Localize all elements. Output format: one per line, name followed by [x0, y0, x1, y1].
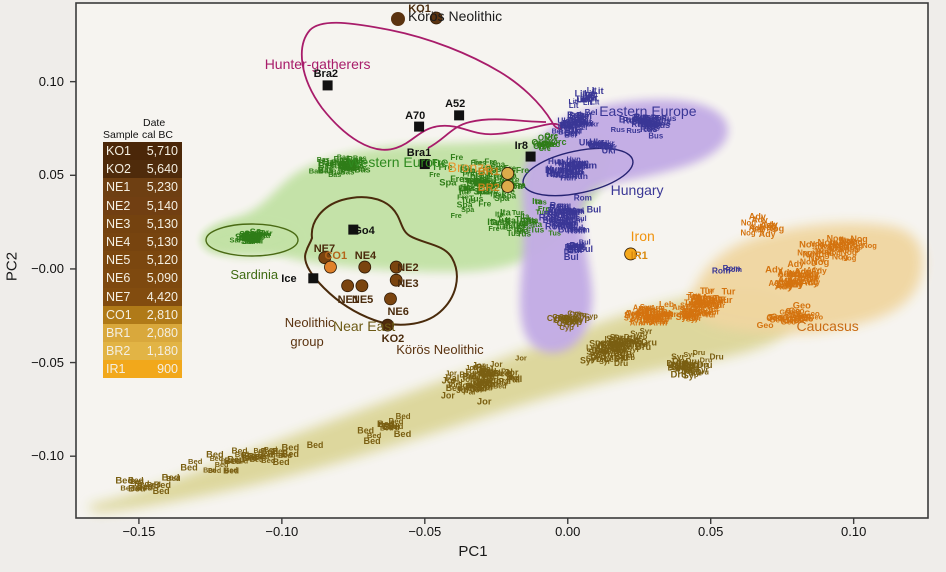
sample-label: Ir8 [515, 140, 528, 152]
hunter-gatherer-marker [454, 110, 464, 120]
population-label: Ukr [587, 139, 600, 148]
population-label: Rom [553, 220, 574, 230]
legend-row: BR21,180 [103, 342, 182, 360]
legend-sample-id: NE7 [106, 290, 130, 304]
population-label: Orc [533, 142, 547, 151]
population-label: Spa [461, 205, 475, 214]
legend-row: IR1900 [103, 360, 182, 378]
ancient-sample-marker [502, 181, 514, 193]
sample-label: KO1 [408, 3, 431, 15]
legend-sample-id: NE1 [106, 180, 130, 194]
legend-row: NE74,420 [103, 288, 182, 306]
population-label: Syr [683, 370, 698, 380]
cluster-annotation: Iron [631, 228, 655, 244]
population-label: Pal [479, 367, 493, 378]
population-label: Nog [828, 244, 844, 253]
population-label: Bed [244, 455, 257, 463]
population-label: Ukr [601, 139, 614, 148]
ancient-sample-marker [324, 261, 336, 273]
population-label: Arm [645, 314, 662, 324]
population-label: Jor [441, 391, 456, 401]
population-label: Bul [551, 209, 566, 220]
population-label: Bed [153, 486, 170, 496]
legend-sample-date: 5,090 [147, 271, 178, 285]
population-label: Jor [465, 363, 477, 372]
population-label: Syr [597, 350, 611, 360]
sample-label: Bra1 [407, 147, 431, 159]
population-label: Nog [827, 233, 844, 243]
sample-label: NE3 [397, 278, 418, 290]
ancient-sample-marker [342, 280, 354, 292]
population-label: Bed [307, 440, 324, 450]
population-label: Bed [382, 421, 398, 431]
legend-sample-date: 5,130 [147, 235, 178, 249]
population-label: Ita [495, 210, 505, 219]
hunter-gatherer-marker [323, 80, 333, 90]
population-label: Ita [500, 218, 510, 227]
population-label: Bed [133, 484, 147, 493]
population-label: Ady [775, 280, 793, 291]
legend-rows: KO15,710KO25,640NE15,230NE25,140NE35,130… [103, 142, 182, 378]
cluster-annotation: Eastern Europe [599, 103, 696, 119]
legend-sample-date: 1,180 [147, 344, 178, 358]
cluster-annotation: Neolithic [285, 315, 335, 330]
legend-header-date-line1: Date [143, 117, 165, 129]
population-label: Tus [512, 208, 524, 217]
legend-sample-id: NE3 [106, 217, 130, 231]
population-label: Jor [477, 395, 492, 406]
sample-label: A70 [405, 110, 425, 122]
ancient-sample-marker [356, 280, 368, 292]
cluster-annotation: Körös Neolithic [396, 342, 483, 357]
population-label: Dru [613, 339, 629, 349]
population-label: Dru [614, 358, 628, 368]
y-tick-label: 0.05 [16, 167, 64, 182]
population-label: Fre [516, 165, 530, 175]
sample-label: KO2 [382, 333, 405, 345]
population-label: Pal [463, 388, 475, 397]
legend-sample-date: 5,120 [147, 253, 178, 267]
legend-row: NE15,230 [103, 178, 182, 196]
sample-date-legend: Sample Date cal BC KO15,710KO25,640NE15,… [103, 114, 182, 378]
population-label: Nog [799, 238, 817, 249]
legend-sample-id: CO1 [106, 308, 132, 322]
legend-row: KO25,640 [103, 160, 182, 178]
legend-sample-id: NE5 [106, 253, 130, 267]
legend-sample-id: KO1 [106, 144, 131, 158]
population-label: Fre [450, 174, 464, 184]
sample-label: NE6 [387, 306, 408, 318]
hunter-gatherer-marker [414, 122, 424, 132]
legend-sample-id: BR1 [106, 326, 130, 340]
population-label: Bed [166, 474, 181, 483]
legend-sample-id: KO2 [106, 162, 131, 176]
legend-sample-date: 5,140 [147, 199, 178, 213]
population-label: Syr [696, 365, 709, 374]
population-label: Syr [703, 300, 715, 309]
population-label: Bed [221, 458, 234, 466]
population-label: Fre [514, 181, 527, 190]
population-label: Jor [445, 369, 457, 378]
legend-sample-date: 5,640 [147, 162, 178, 176]
legend-sample-date: 5,130 [147, 217, 178, 231]
legend-row: NE45,130 [103, 233, 182, 251]
legend-row: NE65,090 [103, 269, 182, 287]
population-label: Ady [763, 220, 778, 229]
population-label: Bed [180, 462, 197, 472]
legend-row: BR12,080 [103, 324, 182, 342]
population-label: Pal [451, 378, 463, 387]
sample-label: IR1 [631, 250, 648, 262]
population-label: Bed [282, 441, 300, 452]
population-label: Bed [367, 431, 382, 440]
legend-sample-id: NE2 [106, 199, 130, 213]
population-label: Bed [396, 412, 411, 421]
pca-figure: BasBasBasBasBasBasBasBasBasBasBasBasBasB… [0, 0, 946, 572]
population-label: Rom [567, 206, 584, 215]
x-tick-label: 0.10 [829, 524, 879, 539]
cluster-annotation: Sardinia [230, 267, 278, 282]
population-label: Pal [506, 374, 520, 384]
legend-row: CO12,810 [103, 306, 182, 324]
ancient-sample-marker [502, 167, 514, 179]
population-label: Cyp [559, 313, 573, 321]
sample-label: CO1 [324, 250, 347, 262]
x-tick-label: −0.15 [114, 524, 164, 539]
population-label: Bul [575, 216, 586, 223]
population-label: Dru [686, 357, 700, 366]
population-label: Tus [507, 229, 521, 238]
legend-header-date-line2: cal BC [142, 129, 173, 141]
population-label: Bed [463, 372, 477, 381]
sample-label: BR2 [478, 182, 500, 194]
sample-label: NE2 [397, 262, 418, 274]
population-label: Sar [249, 235, 263, 244]
sample-label: NE5 [352, 294, 373, 306]
population-label: Arm [633, 303, 649, 312]
sample-label: Ice [281, 273, 296, 285]
population-label: Bel [576, 118, 589, 127]
x-tick-label: −0.05 [400, 524, 450, 539]
population-label: Bul [587, 205, 602, 215]
population-label: Tur [688, 311, 701, 320]
legend-sample-date: 5,230 [147, 180, 178, 194]
legend-sample-date: 900 [157, 362, 178, 376]
legend-sample-id: BR2 [106, 344, 130, 358]
population-label: Bed [208, 468, 221, 475]
y-tick-label: −0.10 [16, 448, 64, 463]
x-tick-label: 0.05 [686, 524, 736, 539]
ancient-sample-marker [384, 293, 396, 305]
cluster-annotation: Hungary [611, 182, 664, 198]
legend-row: NE25,140 [103, 197, 182, 215]
legend-row: NE55,120 [103, 251, 182, 269]
population-label: Geo [766, 314, 782, 323]
legend-row: NE35,130 [103, 215, 182, 233]
legend-sample-date: 2,080 [147, 326, 178, 340]
population-label: Nog [741, 228, 756, 237]
sample-label: NE4 [355, 250, 376, 262]
legend-row: KO15,710 [103, 142, 182, 160]
population-label: Ady [806, 272, 821, 281]
legend-header: Sample Date cal BC [103, 114, 182, 142]
population-label: Tur [718, 295, 733, 305]
koros-neolithic-key-marker [391, 12, 405, 26]
legend-sample-id: IR1 [106, 362, 125, 376]
ancient-sample-marker [359, 261, 371, 273]
population-label: Rom [726, 265, 743, 274]
population-label: Dru [671, 360, 684, 369]
population-label: Syr [624, 313, 636, 322]
sample-label: A52 [445, 98, 465, 110]
population-label: Tur [722, 287, 736, 297]
population-label: Bas [319, 162, 334, 171]
x-axis-title: PC1 [0, 543, 946, 560]
legend-header-sample: Sample [103, 129, 139, 141]
population-label: Dru [635, 340, 648, 349]
population-label: Fre [451, 212, 462, 220]
population-label: Ady [777, 268, 794, 278]
population-label: Fre [429, 172, 440, 179]
population-label: Rom [574, 194, 592, 203]
legend-sample-date: 5,710 [147, 144, 178, 158]
sample-label: BR1 [478, 166, 500, 178]
hunter-gatherer-marker [308, 273, 318, 283]
sample-label: Bra2 [314, 68, 338, 80]
population-label: Pal [478, 378, 492, 389]
y-tick-label: −0.00 [16, 261, 64, 276]
legend-sample-id: NE4 [106, 235, 130, 249]
cluster-annotation: Caucasus [796, 318, 858, 334]
population-label: Lit [587, 92, 598, 102]
legend-sample-date: 2,810 [147, 308, 178, 322]
population-label: Bul [567, 244, 581, 254]
cluster-annotation: Near East [333, 318, 395, 334]
legend-sample-id: NE6 [106, 271, 130, 285]
population-label: Nog [842, 254, 857, 263]
population-label: Bel [560, 121, 573, 130]
x-tick-label: −0.10 [257, 524, 307, 539]
cluster-annotation: Western Europe [348, 154, 449, 170]
cluster-annotation: group [290, 334, 323, 349]
population-label: Lit [568, 98, 577, 106]
legend-sample-date: 4,420 [147, 290, 178, 304]
population-label: Cyp [584, 312, 598, 321]
y-tick-label: 0.10 [16, 74, 64, 89]
population-label: Ita [459, 187, 469, 196]
population-label: Nog [850, 234, 867, 244]
population-label: Hun [559, 160, 575, 169]
sample-label: Go4 [353, 225, 374, 237]
population-label: Rus [611, 125, 625, 134]
y-tick-label: −0.05 [16, 355, 64, 370]
x-tick-label: 0.00 [543, 524, 593, 539]
hunter-gatherer-marker [526, 152, 536, 162]
population-label: Ady [759, 229, 776, 239]
population-label: Jor [515, 354, 527, 363]
population-label: Tus [534, 198, 546, 207]
